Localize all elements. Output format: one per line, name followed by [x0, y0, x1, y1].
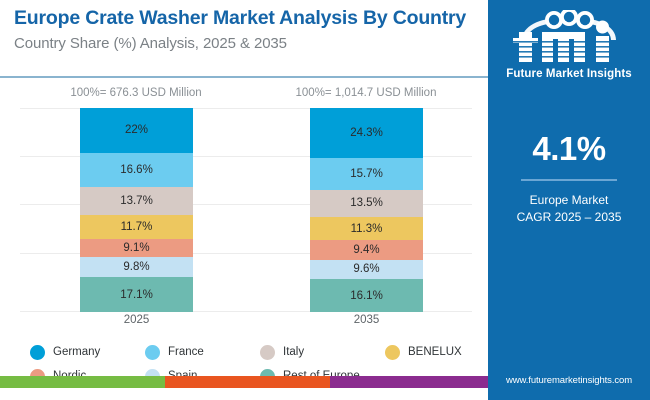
- bar-segment-rest-of-europe: 16.1%: [310, 279, 423, 312]
- legend-item-italy[interactable]: Italy: [260, 345, 385, 360]
- bar-total-2025: 100%= 676.3 USD Million: [36, 87, 236, 99]
- strip-segment-green: [0, 376, 165, 388]
- bar-segment-france: 16.6%: [80, 153, 193, 187]
- legend-label: Italy: [283, 346, 304, 358]
- strip-segment-purple: [330, 376, 488, 388]
- page-subtitle: Country Share (%) Analysis, 2025 & 2035: [14, 35, 474, 53]
- bar-segment-benelux: 11.7%: [80, 215, 193, 239]
- legend-swatch-icon: [385, 345, 400, 360]
- bar-segment-label: 9.1%: [123, 242, 149, 254]
- bar-segment-label: 9.6%: [353, 263, 379, 275]
- legend-item-benelux[interactable]: BENELUX: [385, 345, 480, 360]
- bar-segment-label: 13.7%: [120, 195, 153, 207]
- bar-segment-italy: 13.7%: [80, 187, 193, 215]
- bar-segment-france: 15.7%: [310, 158, 423, 190]
- bar-segment-label: 9.4%: [353, 244, 379, 256]
- infographic-root: Europe Crate Washer Market Analysis By C…: [0, 0, 650, 400]
- brand-panel: Future Market Insights 4.1% Europe Marke…: [488, 0, 650, 400]
- bar-segment-rest-of-europe: 17.1%: [80, 277, 193, 312]
- fmi-logo: Future Market Insights: [488, 6, 650, 84]
- legend-label: Germany: [53, 346, 100, 358]
- bar-segment-label: 17.1%: [120, 289, 153, 301]
- bar-segment-label: 11.3%: [351, 223, 383, 235]
- legend-swatch-icon: [30, 345, 45, 360]
- x-axis-label-2035: 2035: [310, 314, 423, 326]
- bottom-color-strip: [0, 376, 488, 388]
- cagr-caption-line2: CAGR 2025 – 2035: [488, 209, 650, 226]
- legend-swatch-icon: [145, 345, 160, 360]
- header: Europe Crate Washer Market Analysis By C…: [14, 8, 474, 53]
- bar-segment-label: 16.1%: [350, 290, 383, 302]
- bar-segment-label: 13.5%: [350, 197, 383, 209]
- bar-segment-germany: 24.3%: [310, 108, 423, 158]
- fmi-logo-icon: [506, 10, 632, 66]
- bar-segment-spain: 9.8%: [80, 257, 193, 277]
- bar-segment-spain: 9.6%: [310, 260, 423, 280]
- cagr-callout: 4.1% Europe Market CAGR 2025 – 2035: [488, 132, 650, 227]
- bar-2035: 24.3%15.7%13.5%11.3%9.4%9.6%16.1%: [310, 108, 423, 312]
- bar-segment-label: 15.7%: [350, 168, 383, 180]
- page-title: Europe Crate Washer Market Analysis By C…: [14, 8, 474, 30]
- bar-segment-nordic: 9.4%: [310, 240, 423, 259]
- legend-swatch-icon: [260, 345, 275, 360]
- bar-segment-label: 16.6%: [120, 164, 153, 176]
- bar-segment-benelux: 11.3%: [310, 217, 423, 240]
- legend-item-germany[interactable]: Germany: [30, 345, 145, 360]
- website-url: www.futuremarketinsights.com: [488, 375, 650, 386]
- header-divider: [0, 76, 488, 78]
- bar-total-2035: 100%= 1,014.7 USD Million: [266, 87, 466, 99]
- bar-segment-italy: 13.5%: [310, 190, 423, 218]
- cagr-caption-line1: Europe Market: [488, 192, 650, 209]
- bar-segment-germany: 22%: [80, 108, 193, 153]
- bar-2025: 22%16.6%13.7%11.7%9.1%9.8%17.1%: [80, 108, 193, 312]
- bar-segment-nordic: 9.1%: [80, 239, 193, 258]
- legend-label: BENELUX: [408, 346, 462, 358]
- legend-label: France: [168, 346, 204, 358]
- strip-segment-orange: [165, 376, 330, 388]
- bar-segment-label: 9.8%: [123, 261, 149, 273]
- bar-segment-label: 22%: [125, 124, 148, 136]
- x-axis-label-2025: 2025: [80, 314, 193, 326]
- legend-item-france[interactable]: France: [145, 345, 260, 360]
- bar-totals: 100%= 676.3 USD Million 100%= 1,014.7 US…: [0, 84, 488, 106]
- bar-segment-label: 24.3%: [350, 127, 383, 139]
- stacked-bar-chart: 100%= 676.3 USD Million 100%= 1,014.7 US…: [0, 84, 488, 324]
- bar-segment-label: 11.7%: [121, 221, 153, 233]
- chart-panel: Europe Crate Washer Market Analysis By C…: [0, 0, 488, 388]
- cagr-divider: [521, 179, 617, 181]
- x-axis: 2025 2035: [0, 314, 488, 334]
- cagr-value: 4.1%: [488, 132, 650, 165]
- fmi-logo-tagline: Future Market Insights: [506, 68, 632, 80]
